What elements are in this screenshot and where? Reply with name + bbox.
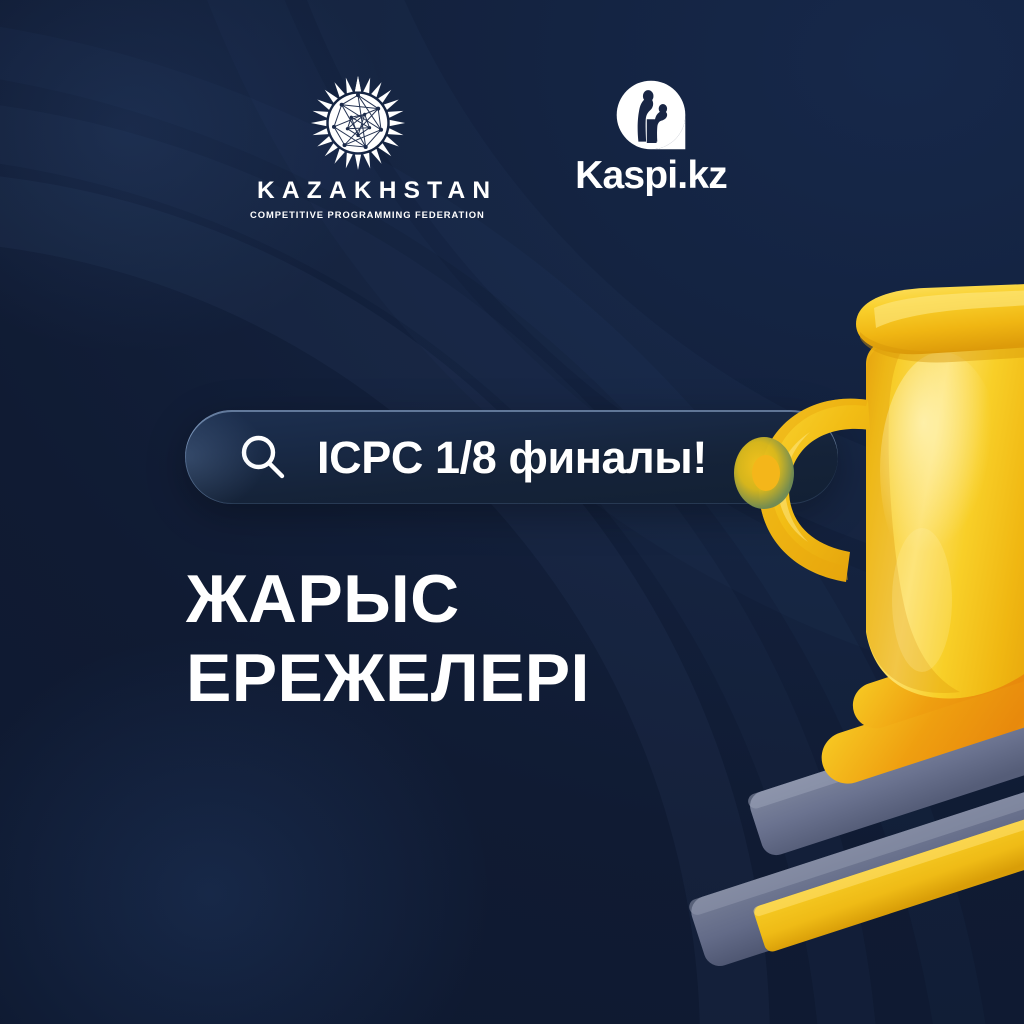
search-icon — [237, 431, 289, 483]
trophy-graphic — [660, 280, 1024, 960]
poster-canvas: KAZAKHSTAN COMPETITIVE PROGRAMMING FEDER… — [0, 0, 1024, 1024]
federation-tagline: COMPETITIVE PROGRAMMING FEDERATION — [250, 210, 465, 219]
federation-name: KAZAKHSTAN — [250, 179, 465, 204]
glow-top-left — [0, 0, 490, 440]
headline-line-1: ЖАРЫС — [186, 561, 460, 637]
gold-trophy-icon — [660, 280, 1024, 960]
search-input[interactable]: ICPC 1/8 финалы! — [317, 435, 707, 480]
federation-logo: KAZAKHSTAN COMPETITIVE PROGRAMMING FEDER… — [250, 75, 465, 219]
kaspi-circle-people-icon — [616, 80, 686, 150]
sponsor-logo: Kaspi.kz — [556, 80, 746, 195]
kcpf-sun-network-emblem-icon — [310, 75, 406, 171]
sponsor-name: Kaspi.kz — [556, 156, 746, 195]
